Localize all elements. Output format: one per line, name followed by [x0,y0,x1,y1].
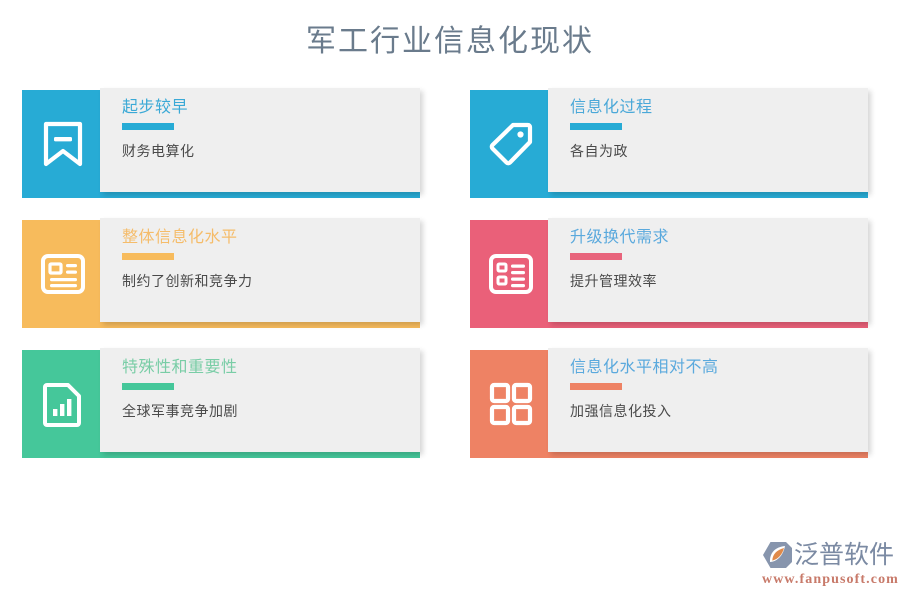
card-item[interactable]: 信息化过程 各自为政 [470,88,868,198]
card-panel: 信息化水平相对不高 加强信息化投入 [548,348,868,452]
card-panel: 整体信息化水平 制约了创新和竞争力 [100,218,420,322]
list-grid-icon [488,253,534,295]
card-icon-container [22,220,104,328]
card-title-underline [122,123,174,130]
card-body-text: 加强信息化投入 [570,401,868,421]
card-icon-container [470,220,552,328]
card-icon-container [22,350,104,458]
chart-file-icon [42,381,84,427]
card-item[interactable]: 信息化水平相对不高 加强信息化投入 [470,348,868,458]
card-title-underline [570,253,622,260]
four-squares-icon [489,382,533,426]
card-icon-container [470,350,552,458]
logo-url: www.fanpusoft.com [762,571,894,589]
tag-icon [488,121,534,167]
card-body-text: 全球军事竞争加剧 [122,401,420,421]
card-body-text: 财务电算化 [122,141,420,161]
card-item[interactable]: 升级换代需求 提升管理效率 [470,218,868,328]
logo-name: 泛普软件 [794,541,894,569]
fanpu-hexagon-logo-icon [762,541,792,569]
card-title: 整体信息化水平 [122,227,420,249]
logo-row: 泛普软件 [762,540,894,570]
card-icon-container [22,90,104,198]
card-title: 特殊性和重要性 [122,357,420,379]
card-panel: 升级换代需求 提升管理效率 [548,218,868,322]
card-item[interactable]: 起步较早 财务电算化 [22,88,420,198]
card-title: 信息化过程 [570,97,868,119]
card-title-underline [122,383,174,390]
card-item[interactable]: 特殊性和重要性 全球军事竞争加剧 [22,348,420,458]
card-panel: 信息化过程 各自为政 [548,88,868,192]
card-panel: 特殊性和重要性 全球军事竞争加剧 [100,348,420,452]
card-icon-container [470,90,552,198]
card-title-underline [570,383,622,390]
card-body-text: 制约了创新和竞争力 [122,271,420,291]
card-panel: 起步较早 财务电算化 [100,88,420,192]
page-title: 军工行业信息化现状 [0,22,900,62]
card-body-text: 提升管理效率 [570,271,868,291]
card-item[interactable]: 整体信息化水平 制约了创新和竞争力 [22,218,420,328]
card-body-text: 各自为政 [570,141,868,161]
bookmark-icon [41,121,85,167]
card-title: 信息化水平相对不高 [570,357,868,379]
card-title: 升级换代需求 [570,227,868,249]
card-title-underline [122,253,174,260]
article-icon [40,253,86,295]
card-title: 起步较早 [122,97,420,119]
brand-logo: 泛普软件 www.fanpusoft.com [762,540,894,588]
card-title-underline [570,123,622,130]
